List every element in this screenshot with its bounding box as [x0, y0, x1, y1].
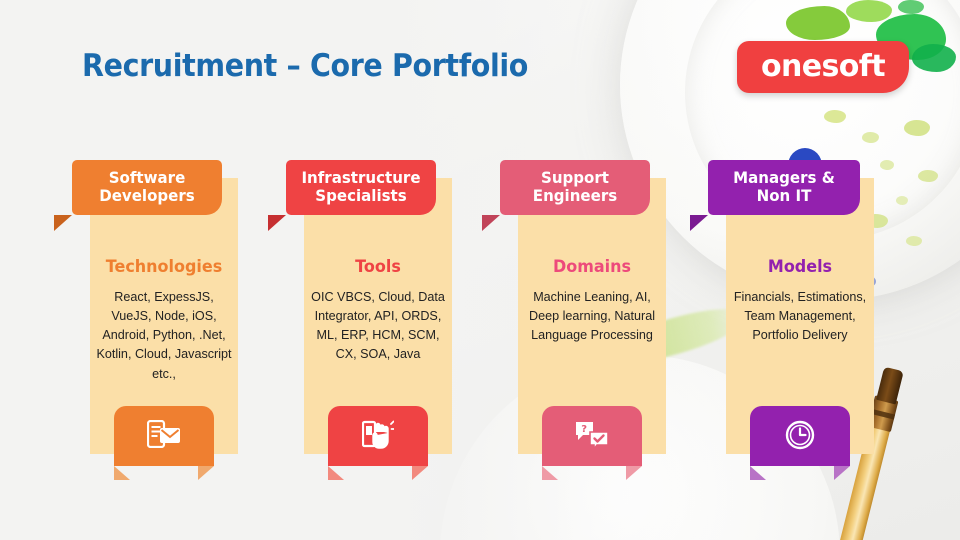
chat-support-icon: ?	[542, 420, 642, 450]
slide-canvas: Recruitment – Core Portfolio onesoft Tec…	[0, 0, 960, 540]
logo-text: onesoft	[761, 49, 885, 84]
card-description: React, ExpessJS, VueJS, Node, iOS, Andro…	[94, 288, 234, 384]
ribbon-fold	[690, 215, 708, 231]
page-title: Recruitment – Core Portfolio	[82, 48, 528, 84]
ribbon-fold	[268, 215, 286, 231]
card-header-label: Software Developers	[82, 169, 212, 205]
card-header-label: Infrastructure Specialists	[296, 169, 426, 205]
card-header-label: Managers & Non IT	[718, 169, 850, 205]
card-managers-non-it[interactable]: Models Financials, Estimations, Team Man…	[726, 178, 874, 454]
card-icon-badge[interactable]	[328, 406, 428, 466]
card-subtitle: Domains	[522, 258, 661, 277]
card-description: Machine Leaning, AI, Deep learning, Natu…	[522, 288, 662, 345]
clock-icon	[750, 420, 850, 450]
card-subtitle: Models	[730, 258, 869, 277]
card-description: Financials, Estimations, Team Management…	[730, 288, 870, 345]
card-header-ribbon: Support Engineers	[500, 160, 650, 215]
svg-text:?: ?	[581, 424, 587, 435]
card-subtitle: Technologies	[94, 258, 233, 277]
card-icon-badge[interactable]: ?	[542, 406, 642, 466]
card-header-ribbon: Software Developers	[72, 160, 222, 215]
card-header-ribbon: Managers & Non IT	[708, 160, 860, 215]
onesoft-logo: onesoft	[737, 41, 909, 93]
card-header-ribbon: Infrastructure Specialists	[286, 160, 436, 215]
card-icon-badge[interactable]	[750, 406, 850, 466]
card-infrastructure-specialists[interactable]: Tools OIC VBCS, Cloud, Data Integrator, …	[304, 178, 452, 454]
card-software-developers[interactable]: Technologies React, ExpessJS, VueJS, Nod…	[90, 178, 238, 454]
card-header-label: Support Engineers	[510, 169, 640, 205]
card-icon-badge[interactable]	[114, 406, 214, 466]
card-description: OIC VBCS, Cloud, Data Integrator, API, O…	[308, 288, 448, 365]
card-subtitle: Tools	[308, 258, 447, 277]
hand-touch-icon	[328, 420, 428, 450]
card-support-engineers[interactable]: Domains Machine Leaning, AI, Deep learni…	[518, 178, 666, 454]
ribbon-fold	[54, 215, 72, 231]
ribbon-fold	[482, 215, 500, 231]
document-envelope-icon	[114, 420, 214, 448]
